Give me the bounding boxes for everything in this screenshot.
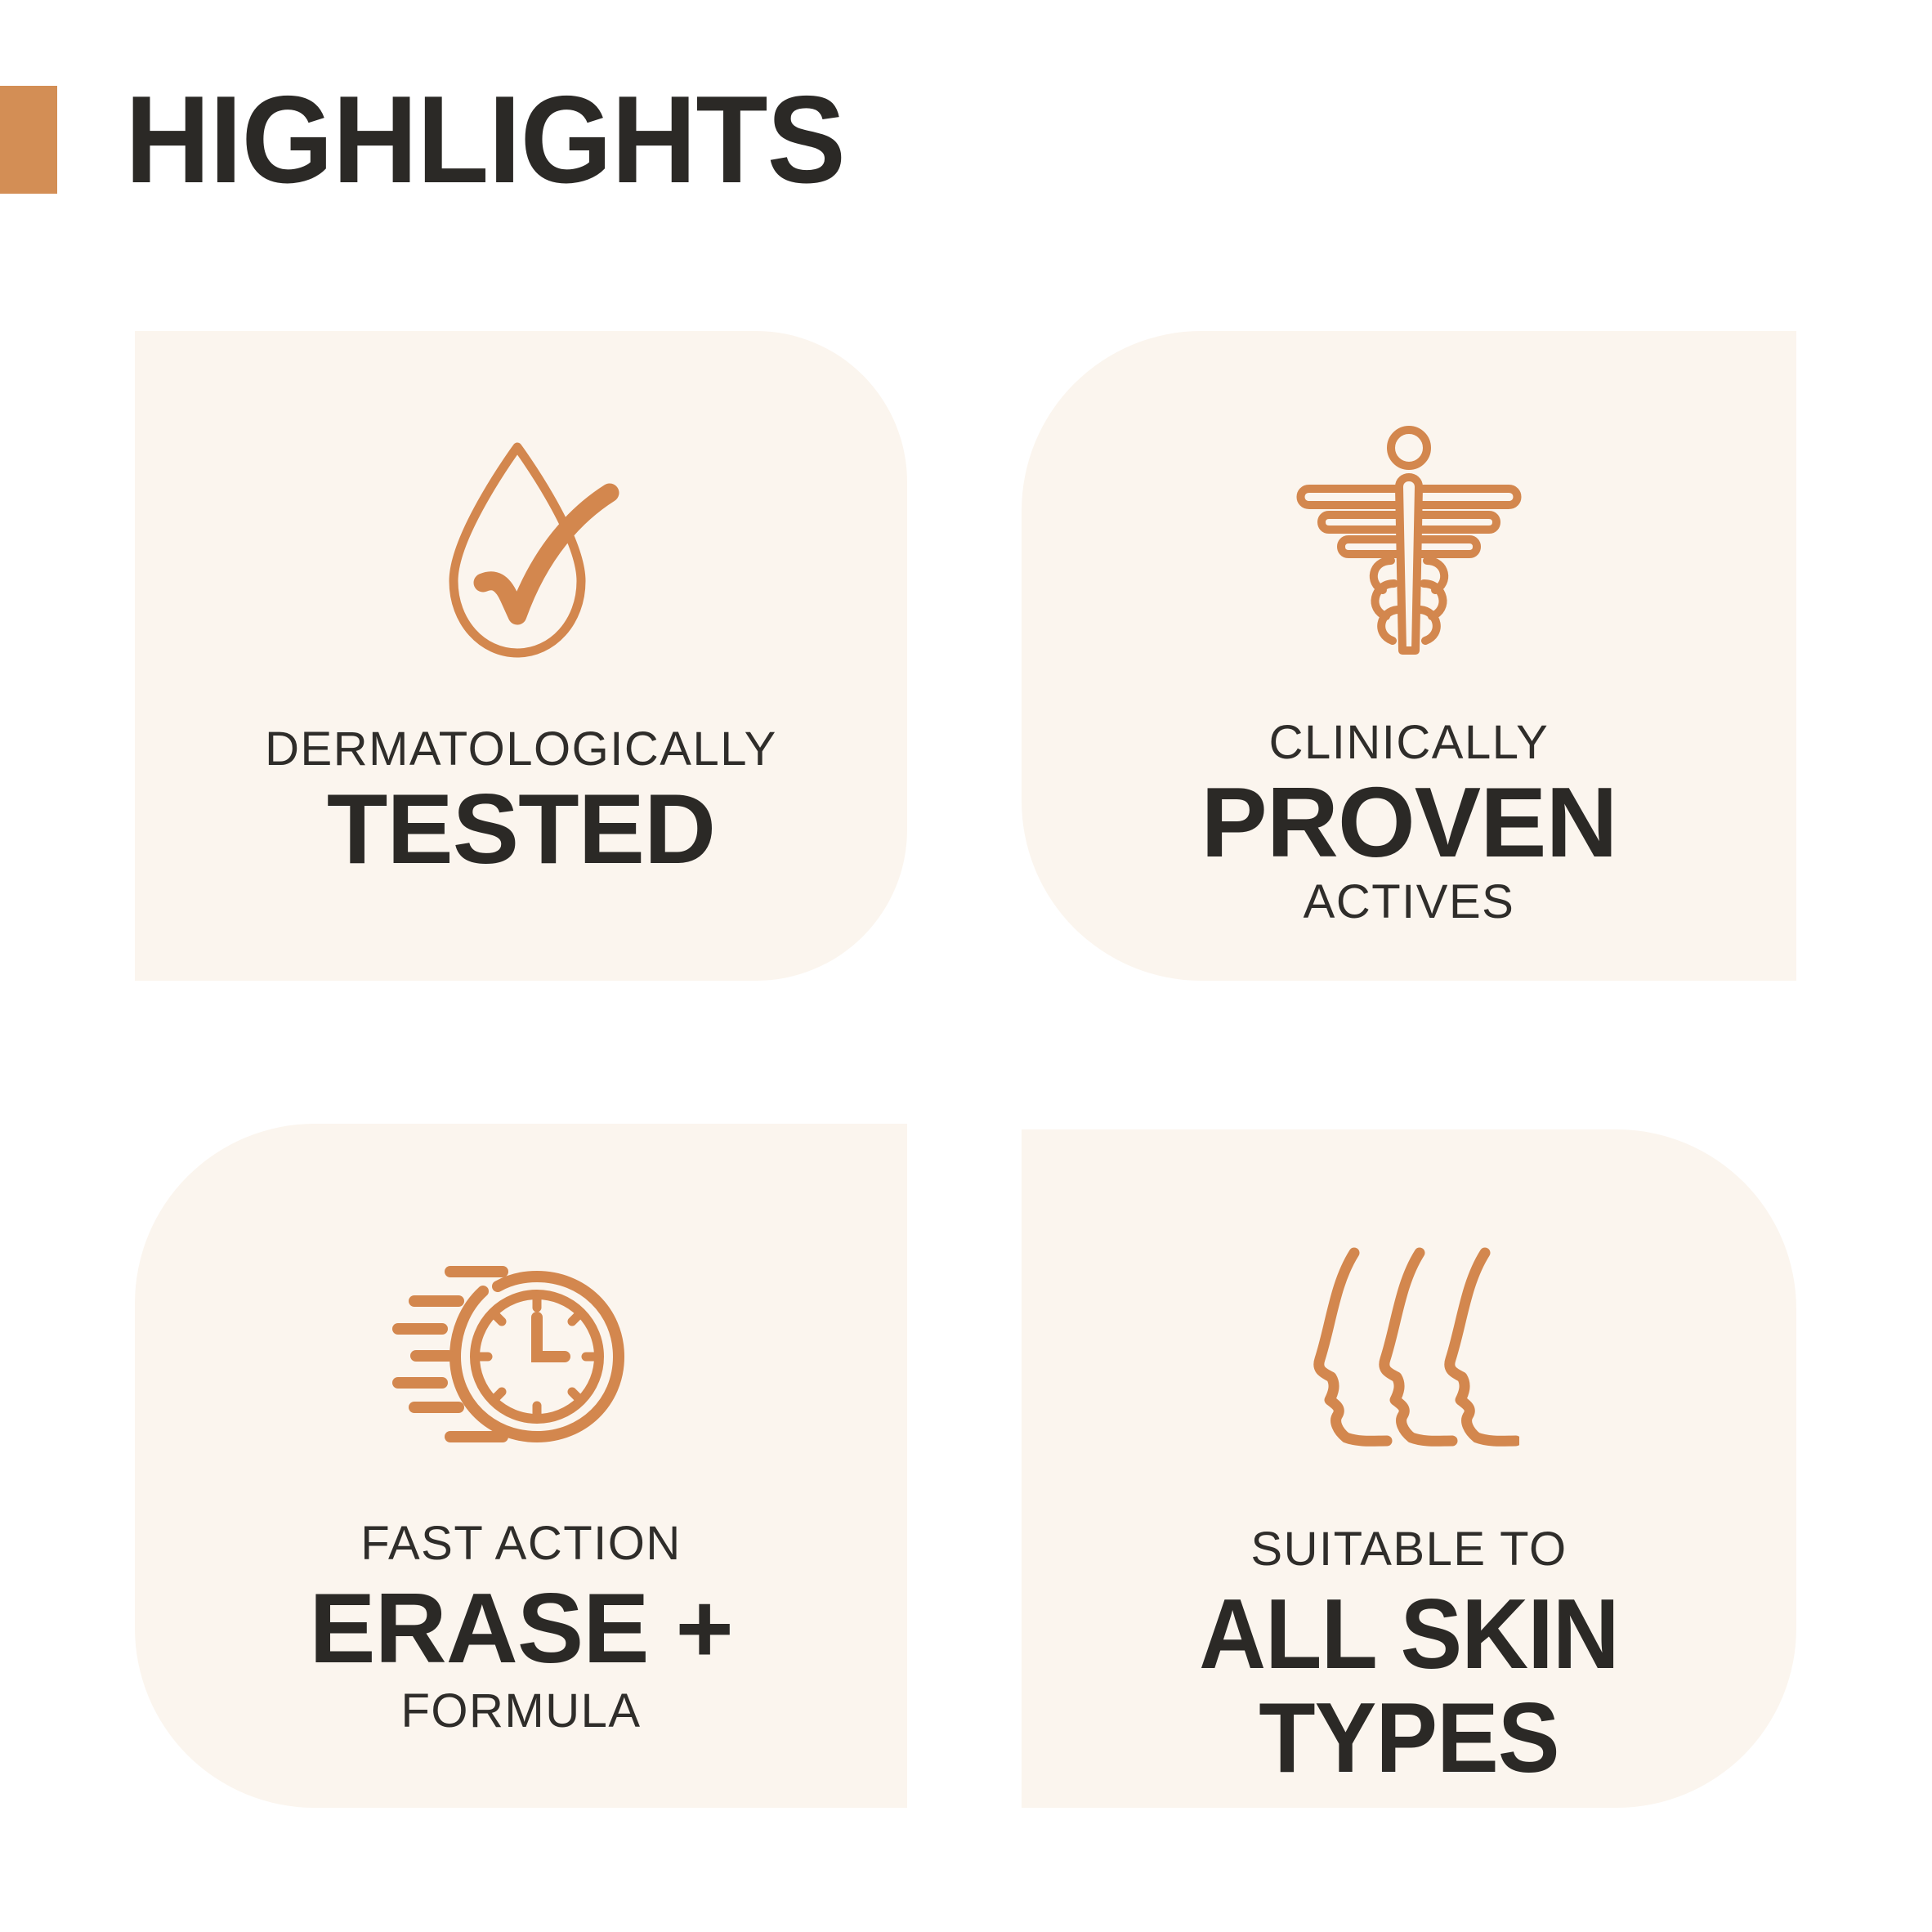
caduceus-medical-icon [1022,419,1796,664]
card-top-label: FAST ACTION [135,1516,907,1572]
card-labels: CLINICALLY PROVEN ACTIVES [1022,715,1796,931]
card-bottom-label: ACTIVES [1022,874,1796,930]
highlight-card-clinically-proven-actives: CLINICALLY PROVEN ACTIVES [1022,331,1796,981]
highlight-card-dermatologically-tested: DERMATOLOGICALLY TESTED [135,331,907,981]
card-labels: SUITABLE TO ALL SKIN TYPES [1022,1522,1796,1790]
card-bottom-label: FORMULA [135,1684,907,1739]
card-top-label: SUITABLE TO [1022,1522,1796,1577]
highlight-card-fast-action-erase-formula: FAST ACTION ERASE + FORMULA [135,1124,907,1808]
water-drop-checkmark-icon [135,429,907,674]
page-title: HIGHLIGHTS [125,78,845,202]
card-main-label: TESTED [135,777,907,881]
page-header: HIGHLIGHTS [0,86,883,194]
card-main-label: PROVEN [1022,771,1796,874]
highlights-grid: DERMATOLOGICALLY TESTED [135,331,1796,1808]
card-top-label: CLINICALLY [1022,715,1796,771]
card-main-label: ERASE + [135,1576,907,1680]
card-labels: DERMATOLOGICALLY TESTED [135,722,907,881]
card-main-label: ALL SKIN TYPES [1049,1582,1769,1790]
card-top-label: DERMATOLOGICALLY [135,722,907,777]
accent-bar [0,86,57,194]
card-labels: FAST ACTION ERASE + FORMULA [135,1516,907,1740]
face-profiles-icon [1022,1236,1796,1465]
fast-clock-icon [135,1230,907,1459]
highlight-card-suitable-all-skin-types: SUITABLE TO ALL SKIN TYPES [1022,1129,1796,1808]
